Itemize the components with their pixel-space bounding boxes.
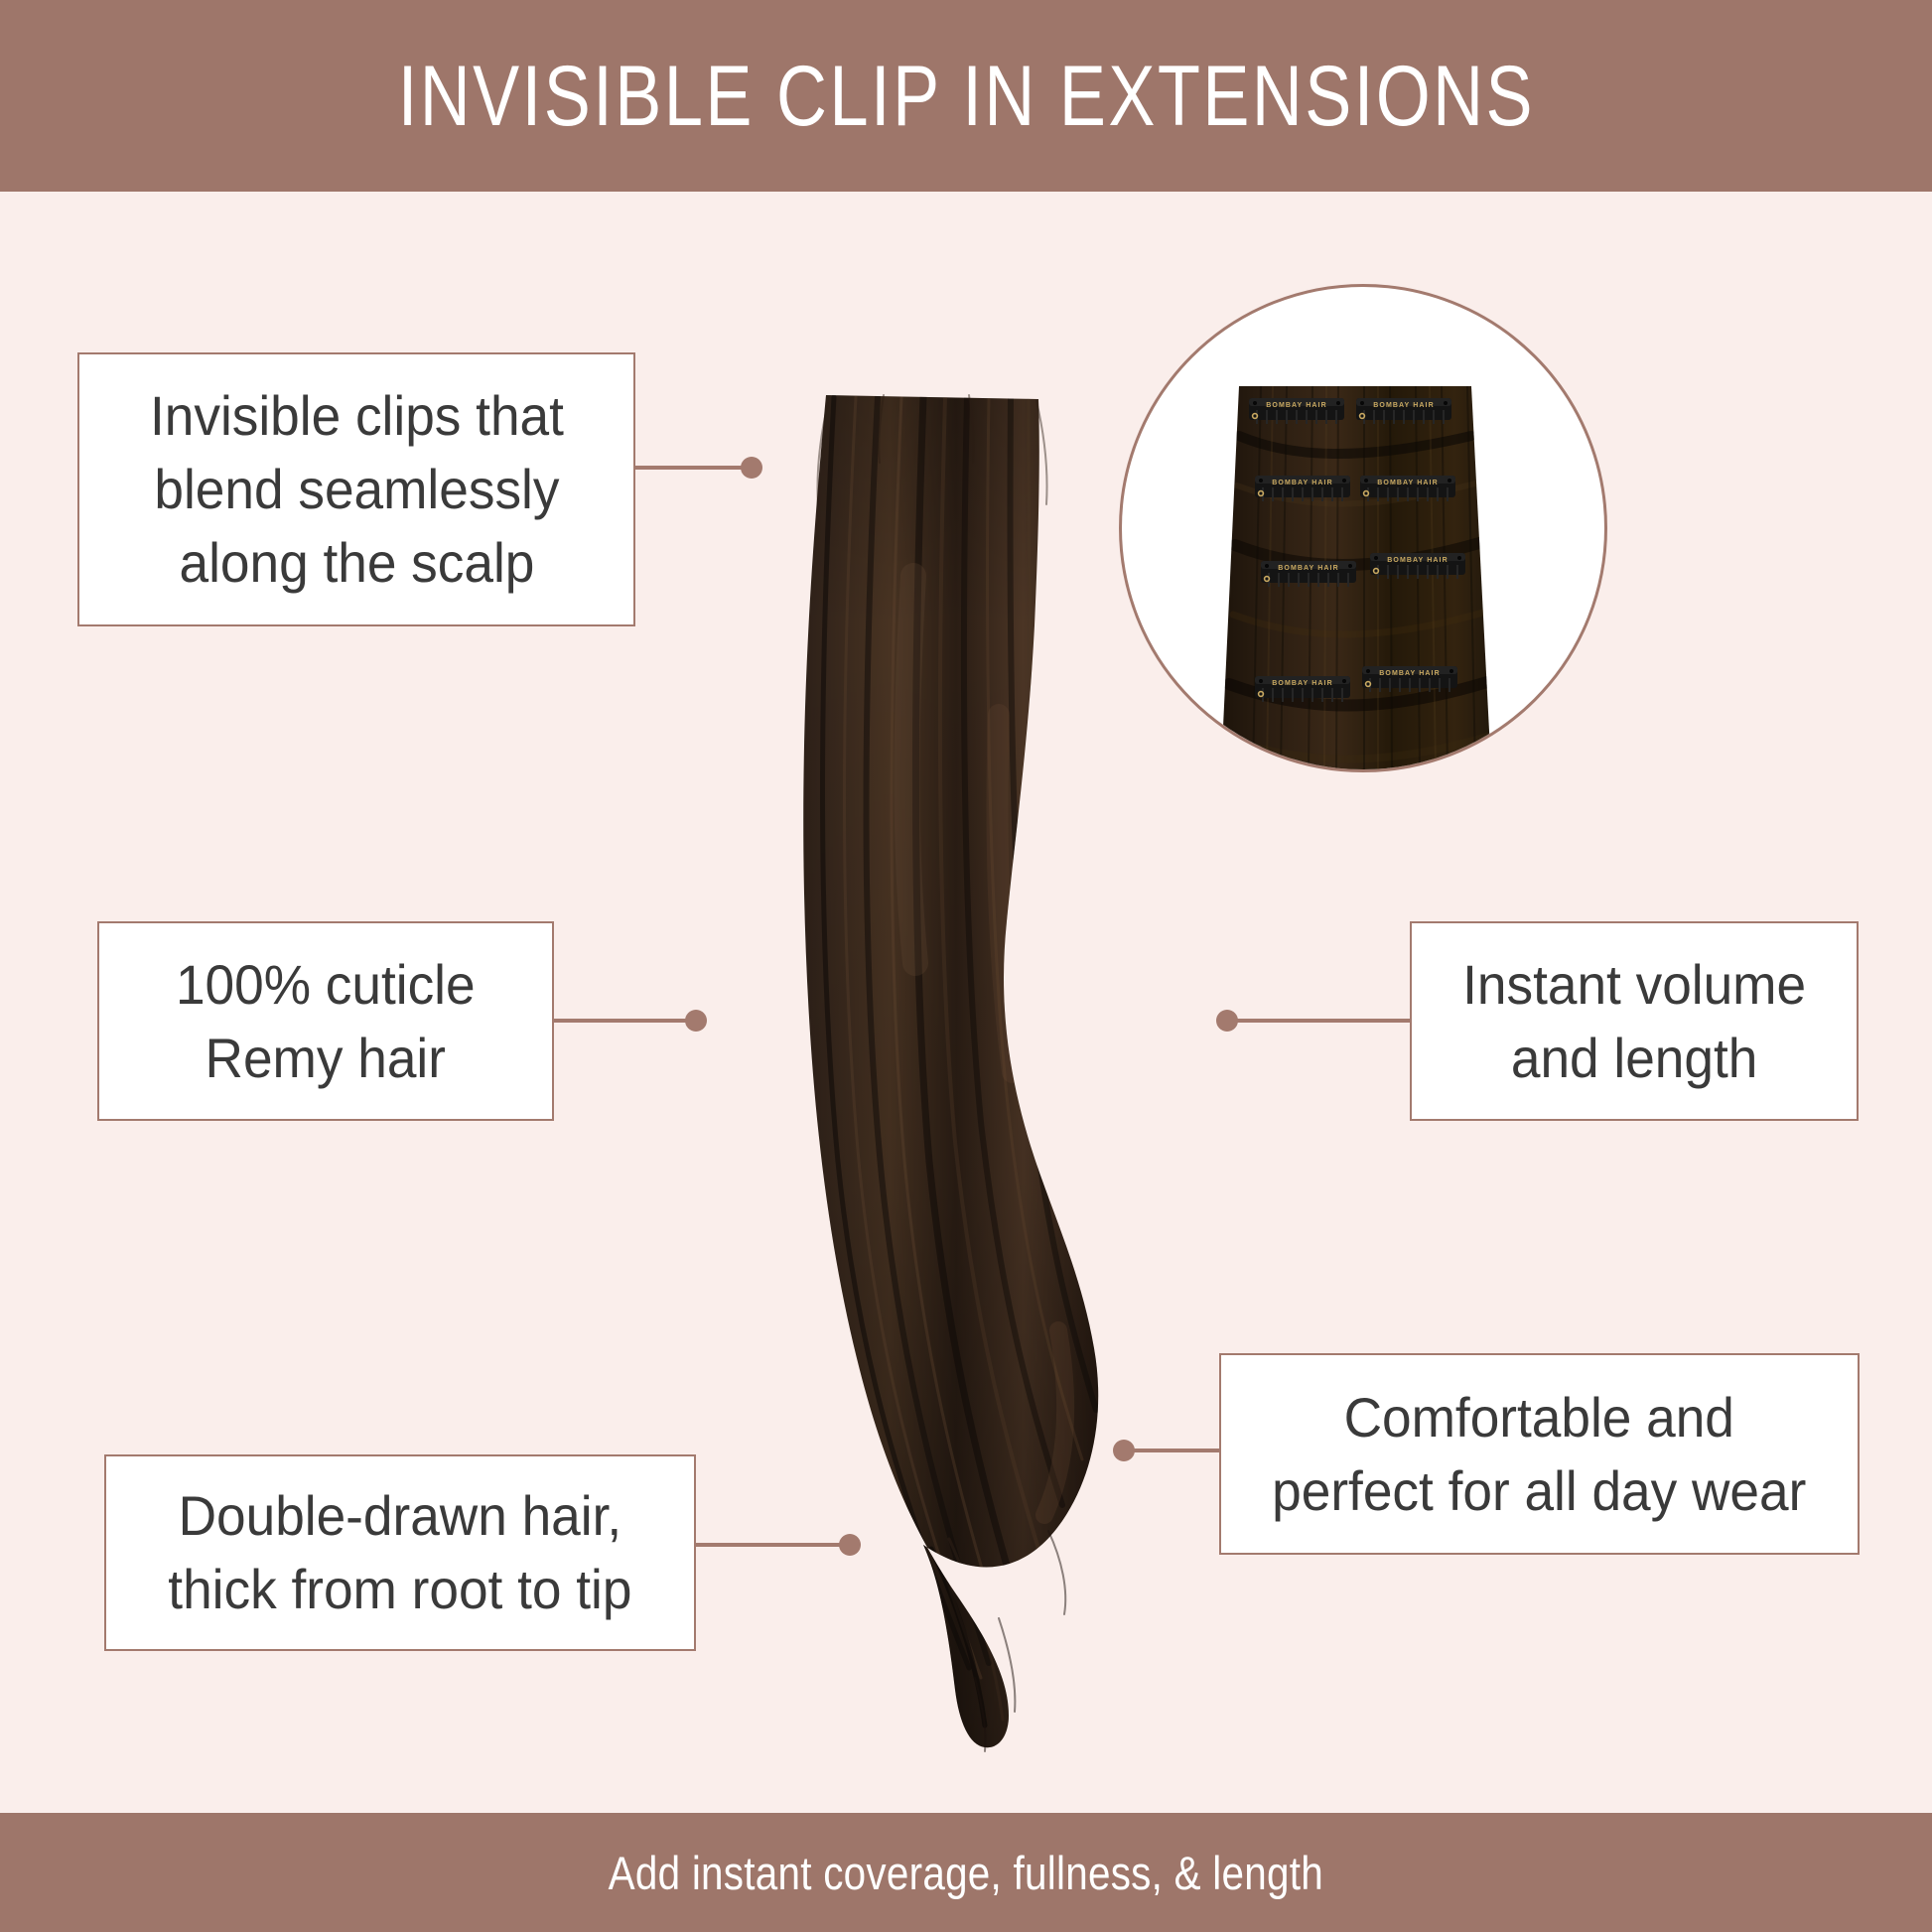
connector-dot-comfort xyxy=(1113,1440,1135,1461)
connector-line-clips xyxy=(633,466,753,470)
callout-label-instant-volume: Instant volume and length xyxy=(1462,948,1806,1095)
callout-label-remy-hair: 100% cuticle Remy hair xyxy=(176,948,476,1095)
svg-text:BOMBAY HAIR: BOMBAY HAIR xyxy=(1272,680,1333,687)
svg-text:BOMBAY HAIR: BOMBAY HAIR xyxy=(1379,670,1441,677)
callout-label-double-drawn: Double-drawn hair, thick from root to ti… xyxy=(168,1479,631,1626)
connector-line-comfort xyxy=(1122,1449,1221,1452)
hair-extension-product-image xyxy=(764,377,1181,1767)
connector-line-volume xyxy=(1225,1019,1412,1023)
callout-label-comfortable: Comfortable and perfect for all day wear xyxy=(1272,1381,1806,1528)
callout-label-invisible-clips: Invisible clips that blend seamlessly al… xyxy=(150,379,564,600)
footer-tagline: Add instant coverage, fullness, & length xyxy=(609,1850,1323,1896)
page-title: INVISIBLE CLIP IN EXTENSIONS xyxy=(397,54,1534,139)
header-bar: INVISIBLE CLIP IN EXTENSIONS xyxy=(0,0,1932,192)
callout-box-remy-hair: 100% cuticle Remy hair xyxy=(97,921,554,1121)
svg-text:BOMBAY HAIR: BOMBAY HAIR xyxy=(1377,480,1439,486)
infographic-page: INVISIBLE CLIP IN EXTENSIONS xyxy=(0,0,1932,1932)
connector-dot-double xyxy=(839,1534,861,1556)
callout-box-double-drawn: Double-drawn hair, thick from root to ti… xyxy=(104,1454,696,1651)
svg-text:BOMBAY HAIR: BOMBAY HAIR xyxy=(1266,402,1327,409)
svg-text:BOMBAY HAIR: BOMBAY HAIR xyxy=(1278,565,1339,572)
connector-dot-clips xyxy=(741,457,762,479)
connector-line-remy xyxy=(552,1019,699,1023)
svg-text:BOMBAY HAIR: BOMBAY HAIR xyxy=(1373,402,1435,409)
callout-box-comfortable: Comfortable and perfect for all day wear xyxy=(1219,1353,1860,1555)
svg-text:BOMBAY HAIR: BOMBAY HAIR xyxy=(1272,480,1333,486)
connector-dot-volume xyxy=(1216,1010,1238,1032)
clip-wefts-closeup-inset: BOMBAY HAIR BOMBAY HAIR xyxy=(1119,284,1607,772)
callout-box-instant-volume: Instant volume and length xyxy=(1410,921,1859,1121)
svg-text:BOMBAY HAIR: BOMBAY HAIR xyxy=(1387,557,1449,564)
connector-dot-remy xyxy=(685,1010,707,1032)
callout-box-invisible-clips: Invisible clips that blend seamlessly al… xyxy=(77,352,635,626)
connector-line-double xyxy=(694,1543,851,1547)
footer-bar: Add instant coverage, fullness, & length xyxy=(0,1813,1932,1932)
